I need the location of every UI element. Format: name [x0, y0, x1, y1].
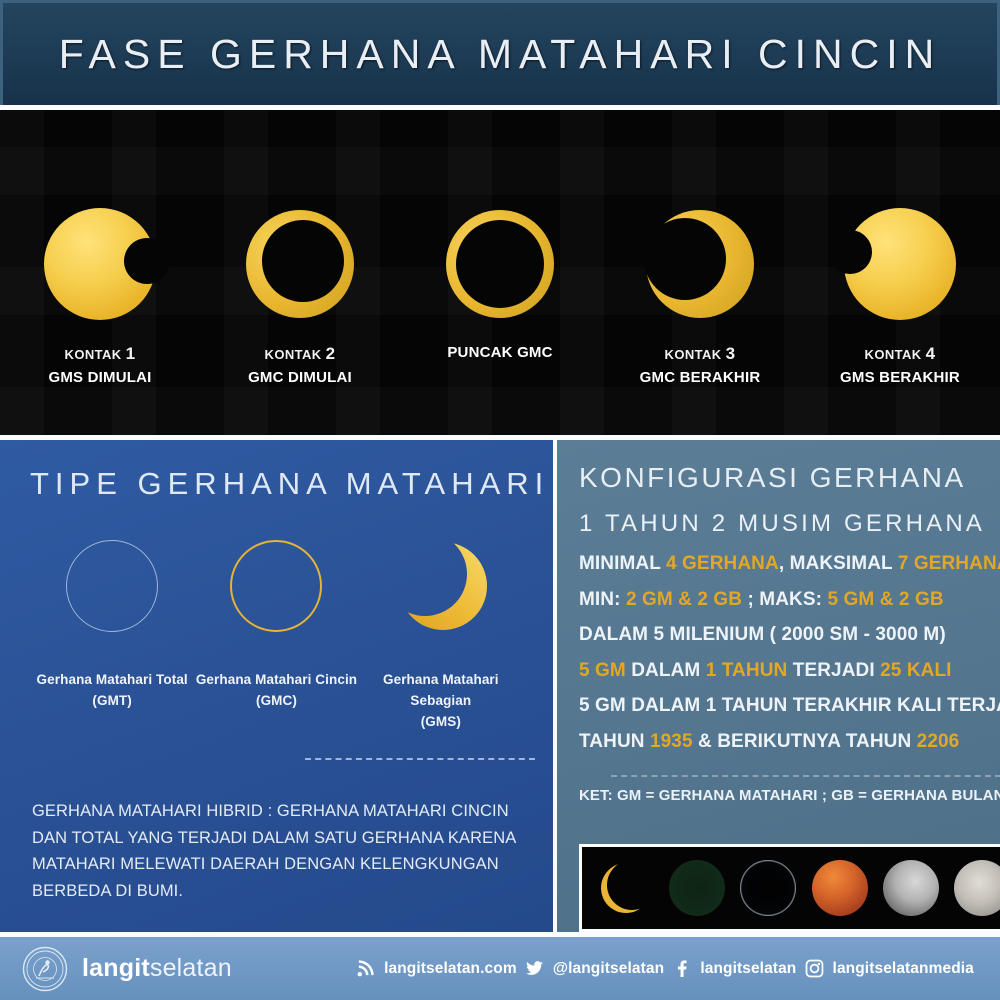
highlight-value: 2 GM & 2 GB — [626, 589, 742, 610]
partial-solar-crescent-photo — [598, 860, 654, 916]
config-headline: 1 TAHUN 2 MUSIM GERHANA — [579, 510, 1000, 538]
highlight-value: 2206 — [917, 731, 960, 752]
social-website[interactable]: langitselatan.com — [356, 959, 517, 978]
langitselatan-seal-logo — [22, 946, 68, 992]
highlight-value: 7 GERHANA — [898, 553, 1000, 574]
social-links: langitselatan.com @langitselatan langits… — [352, 959, 978, 978]
partial-sun-right-bite-icon — [40, 204, 160, 324]
highlight-value: 4 GERHANA — [666, 553, 779, 574]
text-part: DALAM — [626, 660, 706, 681]
page-title: FASE GERHANA MATAHARI CINCIN — [59, 31, 941, 78]
eclipse-types-panel: TIPE GERHANA MATAHARI Gerhana Matahari T… — [0, 440, 557, 932]
social-twitter[interactable]: @langitselatan — [525, 959, 664, 978]
eclipse-types-list: Gerhana Matahari Total (GMT) Gerhana Mat… — [30, 536, 523, 733]
poster-header: FASE GERHANA MATAHARI CINCIN — [0, 0, 1000, 105]
lower-section: TIPE GERHANA MATAHARI Gerhana Matahari T… — [0, 435, 1000, 932]
text-part: MIN: — [579, 589, 626, 610]
phase-contact-label: KONTAK — [65, 347, 122, 362]
eclipse-type-item: Gerhana Matahari Total (GMT) — [30, 536, 194, 733]
facebook-icon — [672, 959, 691, 978]
eclipse-type-name: Gerhana Matahari Cincin — [196, 670, 357, 691]
total-solar-eclipse-corona-photo — [740, 860, 796, 916]
social-label: @langitselatan — [553, 960, 664, 978]
phase-contact-number: 2 — [326, 344, 336, 363]
highlight-value: 5 GM — [579, 660, 626, 681]
phase-item: KONTAK 2 GMC DIMULAI — [200, 124, 400, 388]
divider-dashed — [611, 775, 1000, 777]
config-line-milenium: DALAM 5 MILENIUM ( 2000 SM - 3000 M) — [579, 621, 1000, 650]
phase-item: KONTAK 3 GMC BERAKHIR — [600, 124, 800, 388]
social-label: langitselatan.com — [384, 960, 517, 978]
highlight-value: 5 GM & 2 GB — [827, 589, 943, 610]
rss-icon — [356, 959, 375, 978]
phase-item: KONTAK 4 GMS BERAKHIR — [800, 124, 1000, 388]
text-part: TERJADI — [787, 660, 880, 681]
phase-contact-label: KONTAK — [865, 347, 922, 362]
text-part: ; MAKS: — [742, 589, 827, 610]
eclipse-photo-strip — [579, 844, 1000, 932]
annular-solar-eclipse-photo — [669, 860, 725, 916]
annular-ring-thick-right-icon — [640, 204, 760, 324]
brand-name-bold: langit — [82, 954, 150, 982]
eclipse-type-item: Gerhana Matahari Sebagian (GMS) — [359, 536, 523, 733]
highlight-value: 25 KALI — [880, 660, 951, 681]
annular-ring-even-icon — [440, 204, 560, 324]
types-panel-title: TIPE GERHANA MATAHARI — [30, 466, 523, 502]
eclipse-phases-band: KONTAK 1 GMS DIMULAI KONTAK 2 GMC DIMULA… — [0, 105, 1000, 435]
text-part: , MAKSIMAL — [779, 553, 898, 574]
partial-lunar-eclipse-photo — [883, 860, 939, 916]
phase-contact-label: KONTAK — [265, 347, 322, 362]
eclipse-type-item: Gerhana Matahari Cincin (GMC) — [194, 536, 358, 733]
full-moon-photo — [954, 860, 1000, 916]
phase-contact-label: KONTAK — [665, 347, 722, 362]
brand-name-light: selatan — [150, 954, 232, 982]
social-label: langitselatan — [700, 960, 796, 978]
eclipse-type-name: Gerhana Matahari Total — [37, 670, 188, 691]
eclipse-type-name: Gerhana Matahari Sebagian — [359, 670, 523, 712]
phase-contact-number: 1 — [126, 344, 136, 363]
config-panel-title: KONFIGURASI GERHANA — [579, 462, 1000, 494]
phase-name: GMC DIMULAI — [248, 367, 352, 389]
phase-contact-number: 3 — [726, 344, 736, 363]
config-line-5gm: 5 GM DALAM 1 TAHUN TERJADI 25 KALI — [579, 657, 1000, 686]
phase-name: GMS DIMULAI — [48, 367, 151, 389]
infographic-poster: FASE GERHANA MATAHARI CINCIN KONTAK 1 GM… — [0, 0, 1000, 1000]
config-line-terakhir-1: 5 GM DALAM 1 TAHUN TERAKHIR KALI TERJADI — [579, 692, 1000, 721]
eclipse-type-abbr: (GMS) — [359, 712, 523, 733]
phase-item: PUNCAK GMC — [400, 124, 600, 364]
eclipse-type-abbr: (GMT) — [37, 691, 188, 712]
brand-lockup: langitselatan — [22, 946, 352, 992]
config-legend: KET: GM = GERHANA MATAHARI ; GB = GERHAN… — [579, 787, 1000, 804]
dark-disc-outline-icon — [62, 536, 162, 636]
highlight-value: 1935 — [650, 731, 693, 752]
hybrid-eclipse-note: GERHANA MATAHARI HIBRID : GERHANA MATAHA… — [32, 798, 527, 905]
text-part: & BERIKUTNYA TAHUN — [693, 731, 917, 752]
phase-name: PUNCAK GMC — [447, 342, 552, 364]
gold-crescent-icon — [391, 536, 491, 636]
config-line-terakhir-2: TAHUN 1935 & BERIKUTNYA TAHUN 2206 — [579, 728, 1000, 757]
social-label: langitselatanmedia — [833, 960, 974, 978]
poster-footer: langitselatan langitselatan.com @langits… — [0, 932, 1000, 1000]
config-line-min-maks: MIN: 2 GM & 2 GB ; MAKS: 5 GM & 2 GB — [579, 586, 1000, 615]
eclipse-configuration-panel: KONFIGURASI GERHANA 1 TAHUN 2 MUSIM GERH… — [557, 440, 1000, 932]
brand-wordmark: langitselatan — [82, 954, 232, 983]
phase-item: KONTAK 1 GMS DIMULAI — [0, 124, 200, 388]
highlight-value: 1 TAHUN — [706, 660, 788, 681]
twitter-icon — [525, 959, 544, 978]
text-part: TAHUN — [579, 731, 650, 752]
social-instagram[interactable]: langitselatanmedia — [805, 959, 974, 978]
annular-ring-thick-left-icon — [240, 204, 360, 324]
config-line-minmax: MINIMAL 4 GERHANA, MAKSIMAL 7 GERHANA — [579, 550, 1000, 579]
text-part: MINIMAL — [579, 553, 666, 574]
gold-ring-icon — [226, 536, 326, 636]
phase-name: GMC BERAKHIR — [640, 367, 761, 389]
phase-contact-number: 4 — [926, 344, 936, 363]
instagram-icon — [805, 959, 824, 978]
eclipse-type-abbr: (GMC) — [196, 691, 357, 712]
phase-name: GMS BERAKHIR — [840, 367, 960, 389]
total-lunar-eclipse-red-photo — [812, 860, 868, 916]
divider-dashed — [305, 758, 535, 760]
partial-sun-left-bite-icon — [840, 204, 960, 324]
social-facebook[interactable]: langitselatan — [672, 959, 796, 978]
